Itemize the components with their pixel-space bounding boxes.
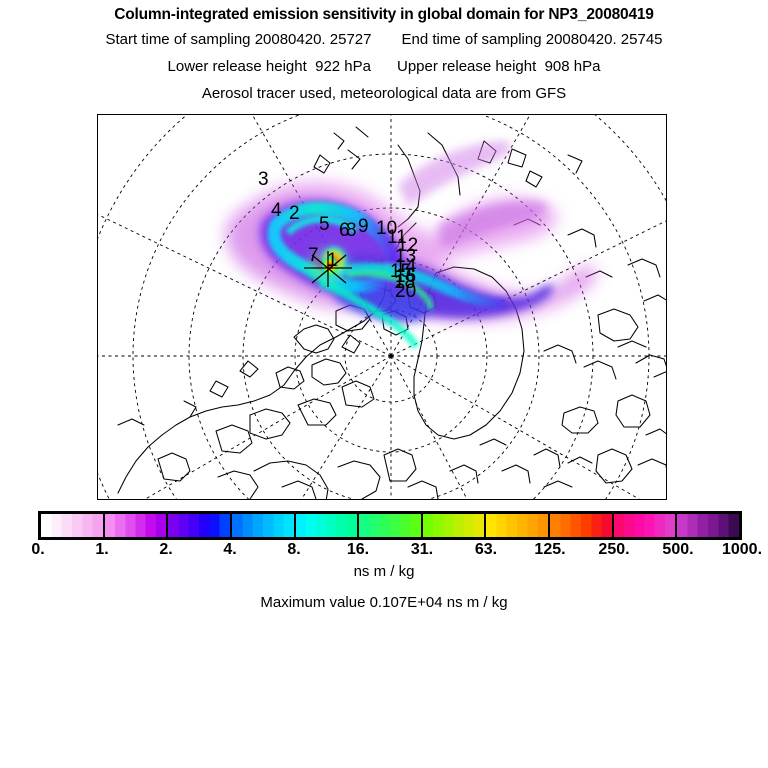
start-time-label: Start time of sampling 20080420. 25727 <box>105 31 371 48</box>
colorbar-tick-label: 1. <box>95 541 108 559</box>
trajectory-hour-label: 15 <box>390 262 411 281</box>
maximum-value-label: Maximum value 0.107E+04 ns m / kg <box>0 594 768 611</box>
colorbar-tick-label: 2. <box>159 541 172 559</box>
trajectory-hour-label: 9 <box>358 217 369 236</box>
trajectory-hour-label: 20 <box>395 282 416 301</box>
colorbar-segment <box>105 514 169 537</box>
colorbar-tick-label: 0. <box>31 541 44 559</box>
trajectory-hour-label: 3 <box>258 170 269 189</box>
colorbar-tick-label: 250. <box>598 541 629 559</box>
colorbar-tick-label: 63. <box>475 541 497 559</box>
trajectory-hour-label: 7 <box>308 246 319 265</box>
colorbar-segment <box>550 514 614 537</box>
colorbar-segment <box>296 514 360 537</box>
sampling-time-line: Start time of sampling 20080420. 25727En… <box>0 31 768 48</box>
colorbar-tick-label: 4. <box>223 541 236 559</box>
colorbar-units-label: ns m / kg <box>0 563 768 580</box>
colorbar-tick-label: 16. <box>347 541 369 559</box>
colorbar <box>38 511 742 540</box>
end-time-label: End time of sampling 20080420. 25745 <box>401 31 662 48</box>
colorbar-tick-labels: 0.1.2.4.8.16.31.63.125.250.500.1000. <box>0 541 768 563</box>
colorbar-segment <box>423 514 487 537</box>
polar-stereographic-map <box>98 115 667 500</box>
map-plot-area: 342568910111271131416182015 <box>97 114 667 500</box>
colorbar-tick-label: 125. <box>534 541 565 559</box>
upper-release-height-label: Upper release height 908 hPa <box>397 58 600 75</box>
colorbar-segment <box>232 514 296 537</box>
colorbar-segment <box>677 514 739 537</box>
page-title: Column-integrated emission sensitivity i… <box>0 6 768 24</box>
release-height-line: Lower release height 922 hPaUpper releas… <box>0 58 768 75</box>
colorbar-segment <box>168 514 232 537</box>
trajectory-hour-label: 5 <box>319 215 330 234</box>
trajectory-hour-label: 1 <box>327 251 338 270</box>
colorbar-tick-label: 1000. <box>722 541 762 559</box>
colorbar-tick-label: 8. <box>287 541 300 559</box>
lower-release-height-label: Lower release height 922 hPa <box>168 58 371 75</box>
tracer-info-label: Aerosol tracer used, meteorological data… <box>0 85 768 102</box>
trajectory-hour-label: 4 <box>271 201 282 220</box>
colorbar-segment <box>486 514 550 537</box>
colorbar-segment <box>614 514 678 537</box>
colorbar-tick-label: 500. <box>662 541 693 559</box>
colorbar-segment <box>41 514 105 537</box>
colorbar-tick-label: 31. <box>411 541 433 559</box>
trajectory-hour-label: 2 <box>289 204 300 223</box>
colorbar-segment <box>359 514 423 537</box>
trajectory-hour-label: 8 <box>346 221 357 240</box>
plot-page: Column-integrated emission sensitivity i… <box>0 0 768 768</box>
